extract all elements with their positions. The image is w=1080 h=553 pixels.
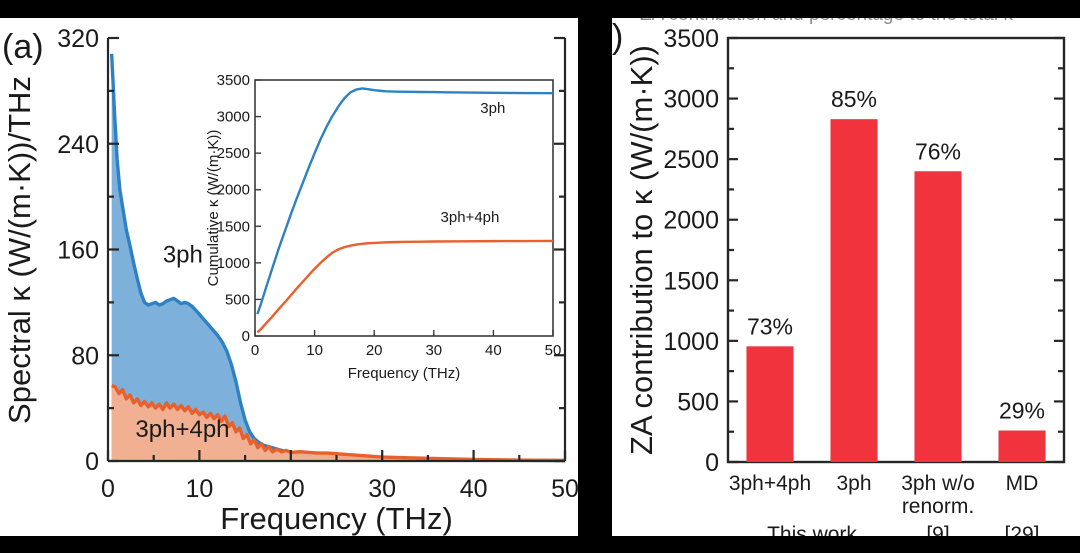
panel-a-inset-x-tick-label: 40 (485, 342, 502, 359)
panel-b-bar-1[interactable] (830, 119, 877, 462)
panel-a-y-axis-title: Spectral κ (W/(m·K))/THz (2, 76, 37, 424)
panel-b-category-label-1: 3ph (836, 472, 871, 495)
panel-a-inset-x-tick-label: 0 (251, 342, 259, 359)
panel-b-category-label-2: 3ph w/o (901, 472, 975, 495)
panel-a-inset-x-axis-title: Frequency (THz) (348, 365, 461, 382)
panel-a-y-tick-label: 80 (71, 342, 99, 370)
panel-b-category-label-2: renorm. (902, 495, 974, 518)
panel-b-y-tick-label: 1500 (663, 267, 719, 295)
panel-b-y-tick-label: 0 (705, 449, 719, 477)
panel-b-category-label-0: 3ph+4ph (729, 472, 811, 495)
panel-a-label: (a) (2, 28, 44, 66)
panel-b-y-tick-label: 2500 (663, 146, 719, 174)
panel-a-inset-series-label-3ph+4ph: 3ph+4ph (441, 209, 500, 226)
panel-a-inset-y-tick-label: 3500 (217, 72, 250, 89)
panel-gutter-black-band (578, 0, 612, 553)
panel-b-chart: ZA contribution and percentage to the to… (612, 0, 1080, 538)
panel-b-y-axis-title: ZA contribution to κ (W/(m·K)) (624, 45, 659, 455)
panel-a-inset-y-tick-label: 0 (242, 328, 250, 345)
panel-a-inset-series-label-3ph: 3ph (480, 100, 505, 117)
panel-a-series-label-3ph: 3ph (163, 242, 203, 269)
panel-b-bar-3[interactable] (998, 431, 1045, 462)
top-black-band (0, 0, 1080, 18)
panel-b-y-tick-label: 1000 (663, 328, 719, 356)
bottom-black-band (0, 536, 1080, 553)
panel-a-inset-x-tick-label: 50 (545, 342, 562, 359)
panel-a-x-tick-label: 0 (101, 475, 115, 503)
panel-a-inset-bg (255, 80, 553, 336)
panel-a-x-tick-label: 50 (551, 475, 578, 503)
panel-b-bar-2[interactable] (914, 171, 961, 462)
panel-a-x-tick-label: 30 (368, 475, 396, 503)
panel-a-x-tick-label: 10 (185, 475, 213, 503)
panel-a-inset-x-tick-label: 20 (366, 342, 383, 359)
panel-b-bar-0[interactable] (746, 346, 793, 462)
panel-b-bar-value-label-1: 85% (831, 86, 877, 112)
panel-a-y-tick-label: 320 (57, 25, 99, 53)
panel-a-x-tick-label: 20 (277, 475, 305, 503)
panel-a-inset-x-tick-label: 30 (425, 342, 442, 359)
panel-b-bar-value-label-0: 73% (747, 313, 793, 339)
panel-a-y-tick-label: 160 (57, 237, 99, 265)
panel-a-series-label-3ph+4ph: 3ph+4ph (135, 416, 229, 443)
panel-a-spectral-kappa: (a)Spectral κ (W/(m·K))/THzFrequency (TH… (0, 18, 578, 536)
panel-b-bar-value-label-2: 76% (915, 138, 961, 164)
panel-a-inset-y-tick-label: 500 (225, 291, 250, 308)
panel-b-y-tick-label: 3500 (663, 25, 719, 53)
panel-a-y-tick-label: 240 (57, 131, 99, 159)
panel-b-label: ) (612, 18, 623, 56)
panel-b-y-tick-label: 500 (677, 388, 719, 416)
panel-a-inset-x-tick-label: 10 (306, 342, 323, 359)
panel-b-category-label-3: MD (1006, 472, 1039, 495)
panel-b-bar-value-label-3: 29% (999, 398, 1045, 424)
panel-a-y-tick-label: 0 (85, 448, 99, 476)
panel-b-za-contribution: ZA contribution and percentage to the to… (612, 0, 1080, 538)
panel-a-chart: (a)Spectral κ (W/(m·K))/THzFrequency (TH… (0, 18, 578, 536)
panel-a-x-axis-title: Frequency (THz) (220, 501, 453, 536)
panel-b-y-tick-label: 2000 (663, 207, 719, 235)
panel-a-inset-y-axis-title: Cumulative κ (W/(m·K)) (205, 130, 222, 287)
panel-a-x-tick-label: 40 (460, 475, 488, 503)
panel-a-inset-y-tick-label: 3000 (217, 109, 250, 126)
panel-b-y-tick-label: 3000 (663, 86, 719, 114)
